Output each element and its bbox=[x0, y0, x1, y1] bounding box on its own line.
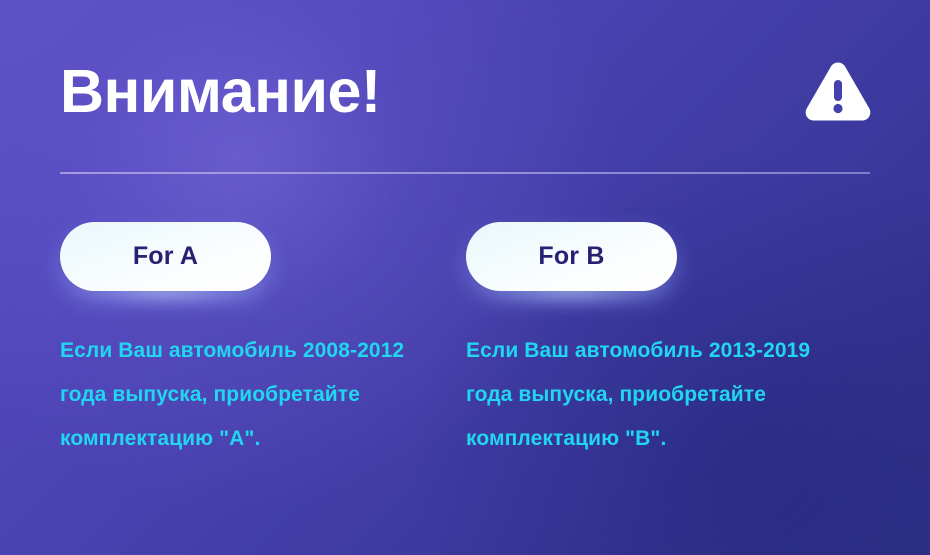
page-title: Внимание! bbox=[60, 61, 381, 122]
description-line: Если Ваш автомобиль 2008-2012 bbox=[60, 329, 460, 373]
button-wrap-for-b: For B bbox=[466, 222, 677, 291]
option-column-for-b: For B Если Ваш автомобиль 2013-2019 года… bbox=[466, 222, 872, 461]
header-divider bbox=[60, 172, 870, 174]
warning-triangle-icon bbox=[804, 60, 872, 122]
option-description-for-a: Если Ваш автомобиль 2008-2012 года выпус… bbox=[60, 329, 460, 461]
options-container: For A Если Ваш автомобиль 2008-2012 года… bbox=[60, 222, 872, 461]
for-a-button[interactable]: For A bbox=[60, 222, 271, 291]
button-wrap-for-a: For A bbox=[60, 222, 271, 291]
description-line: года выпуска, приобретайте bbox=[60, 373, 460, 417]
description-line: комплектацию "A". bbox=[60, 417, 460, 461]
option-description-for-b: Если Ваш автомобиль 2013-2019 года выпус… bbox=[466, 329, 866, 461]
attention-banner: Внимание! For A Если Ваш автомобиль 2008… bbox=[0, 0, 930, 555]
description-line: Если Ваш автомобиль 2013-2019 bbox=[466, 329, 866, 373]
for-b-button[interactable]: For B bbox=[466, 222, 677, 291]
description-line: комплектацию "B". bbox=[466, 417, 866, 461]
description-line: года выпуска, приобретайте bbox=[466, 373, 866, 417]
option-column-for-a: For A Если Ваш автомобиль 2008-2012 года… bbox=[60, 222, 466, 461]
banner-header: Внимание! bbox=[60, 52, 872, 130]
